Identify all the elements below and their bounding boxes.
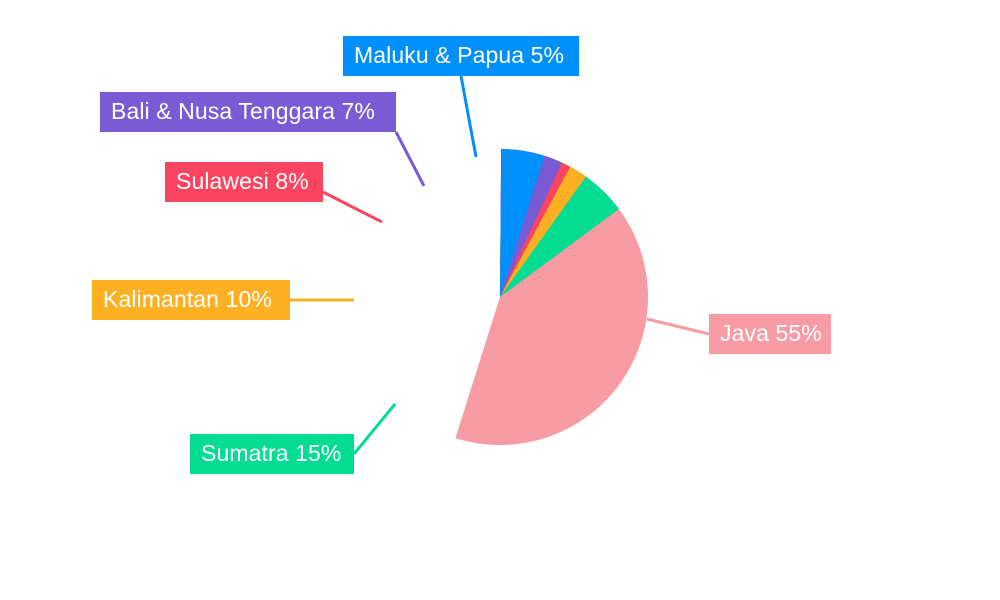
- leader-line-sumatra: [354, 404, 395, 454]
- pie-chart-figure: Java 55%Sumatra 15%Kalimantan 10%Sulawes…: [0, 0, 1000, 600]
- pie-label-kalimantan[interactable]: Kalimantan 10%: [92, 280, 290, 320]
- leader-line-maluku-papua: [461, 76, 476, 157]
- pie-label-java[interactable]: Java 55%: [709, 314, 831, 354]
- pie-wedge-group: [455, 149, 648, 445]
- pie-label-sumatra[interactable]: Sumatra 15%: [190, 434, 354, 474]
- leader-line-java: [647, 319, 709, 334]
- pie-label-bali-nusa-tenggara[interactable]: Bali & Nusa Tenggara 7%: [100, 92, 396, 132]
- pie-label-sulawesi[interactable]: Sulawesi 8%: [165, 162, 323, 202]
- pie-label-maluku-papua[interactable]: Maluku & Papua 5%: [343, 36, 579, 76]
- leader-line-bali-nusa-tenggara: [396, 132, 424, 186]
- leader-line-sulawesi: [323, 192, 382, 222]
